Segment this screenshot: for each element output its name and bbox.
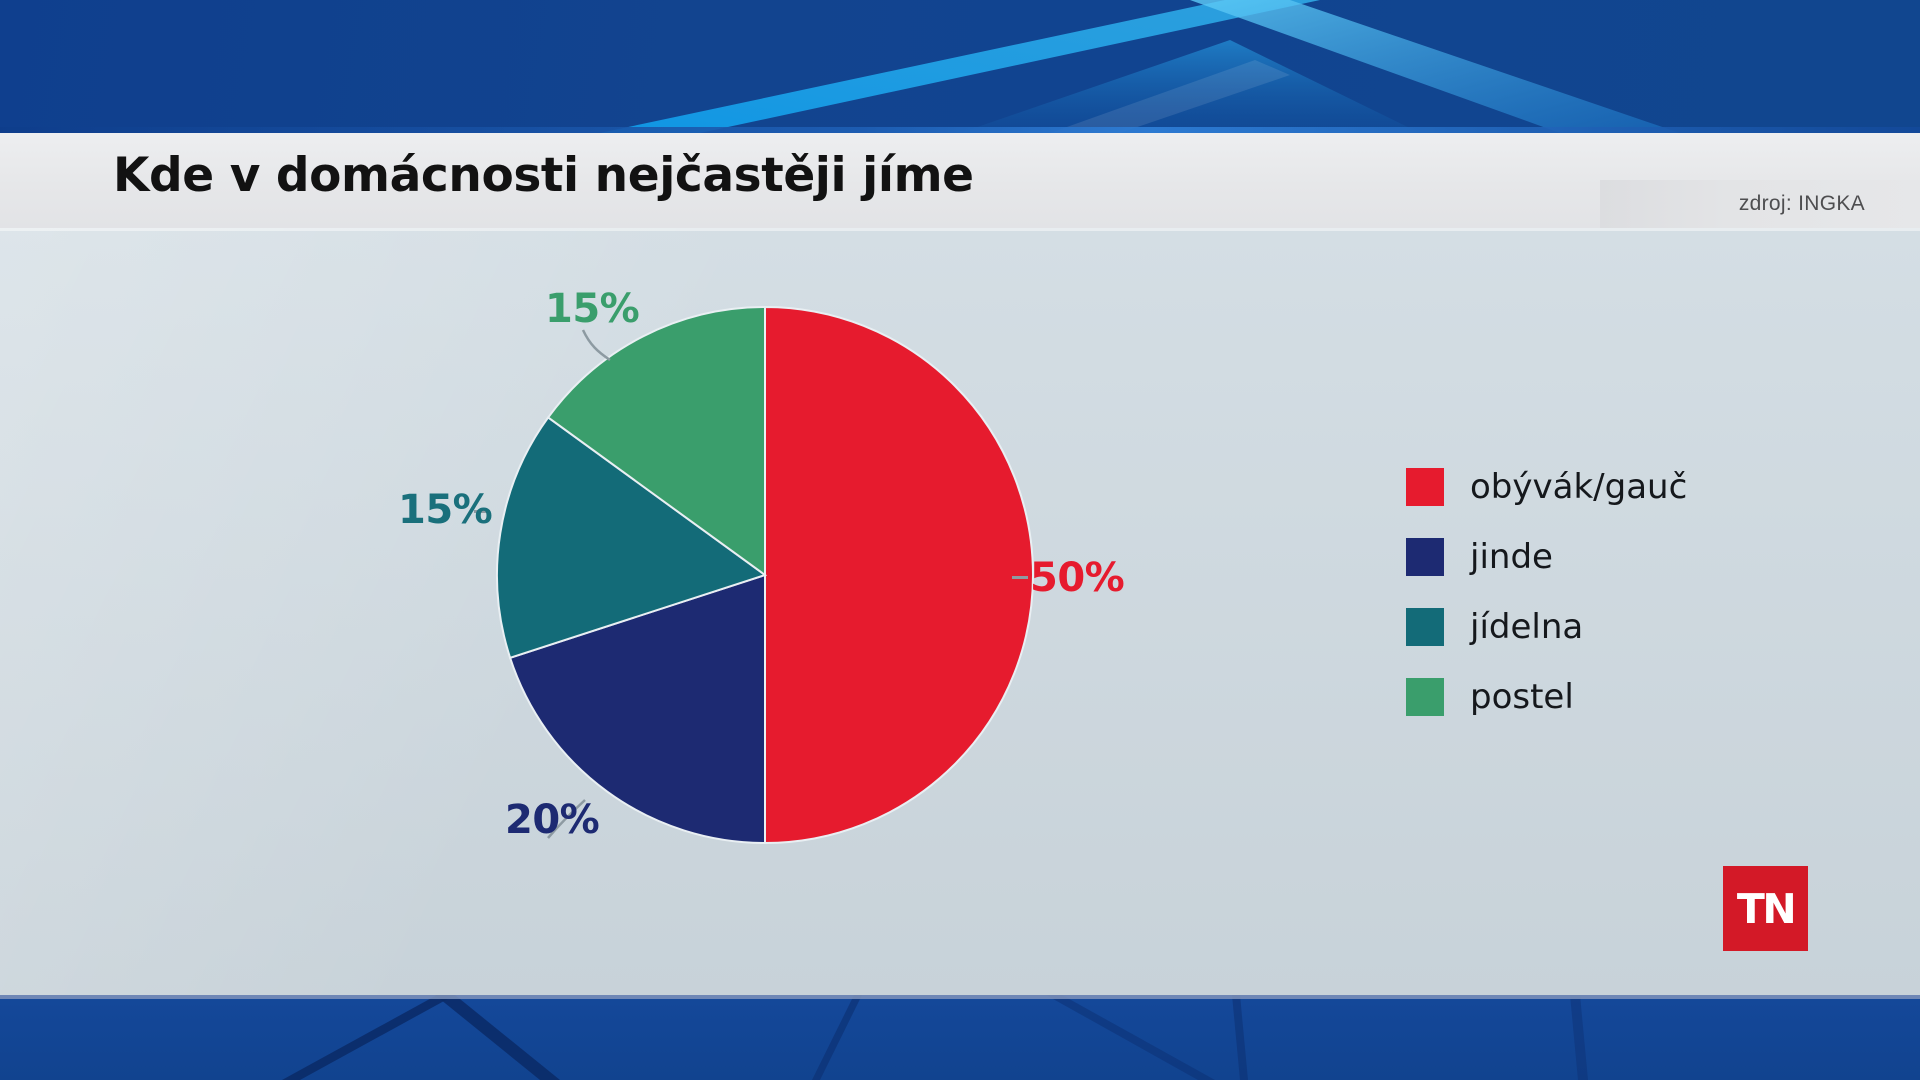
legend-swatch-icon: [1406, 538, 1444, 576]
legend-swatch-icon: [1406, 608, 1444, 646]
page-title: Kde v domácnosti nejčastěji jíme: [113, 148, 974, 203]
slice-value-jidelna: 15%: [398, 487, 492, 533]
legend-label: postel: [1470, 677, 1574, 717]
infographic-stage: Kde v domácnosti nejčastěji jíme zdroj: …: [0, 0, 1920, 1080]
legend-label: jídelna: [1470, 607, 1583, 647]
slice-value-obyvak-gauc: 50%: [1030, 555, 1124, 601]
panel-top-edge: [0, 228, 1920, 231]
pie-chart-svg: [495, 305, 1035, 845]
slice-value-jinde: 20%: [505, 797, 599, 843]
slice-value-postel: 15%: [545, 286, 639, 332]
legend-swatch-icon: [1406, 678, 1444, 716]
legend-item-postel[interactable]: postel: [1406, 662, 1687, 732]
legend-item-obyvak-gauc[interactable]: obývák/gauč: [1406, 452, 1687, 522]
source-label: zdroj: INGKA: [1739, 192, 1865, 216]
leader-tick-red: [1012, 576, 1028, 579]
legend-label: jinde: [1470, 537, 1553, 577]
pie-slice: [765, 307, 1033, 843]
legend-item-jinde[interactable]: jinde: [1406, 522, 1687, 592]
legend-item-jidelna[interactable]: jídelna: [1406, 592, 1687, 662]
bottom-edge-line: [0, 995, 1920, 999]
source-container: zdroj: INGKA: [1600, 180, 1920, 228]
top-banner: [0, 0, 1920, 133]
legend-swatch-icon: [1406, 468, 1444, 506]
bottom-diagonal-graphic: [0, 995, 1920, 1080]
banner-chevron-graphic: [0, 0, 1920, 133]
legend-label: obývák/gauč: [1470, 467, 1687, 507]
bottom-strip: [0, 995, 1920, 1080]
tn-logo: TN: [1723, 866, 1808, 951]
legend: obývák/gauč jinde jídelna postel: [1406, 452, 1687, 732]
pie-chart: [495, 305, 1035, 845]
tn-logo-text: TN: [1737, 885, 1794, 933]
